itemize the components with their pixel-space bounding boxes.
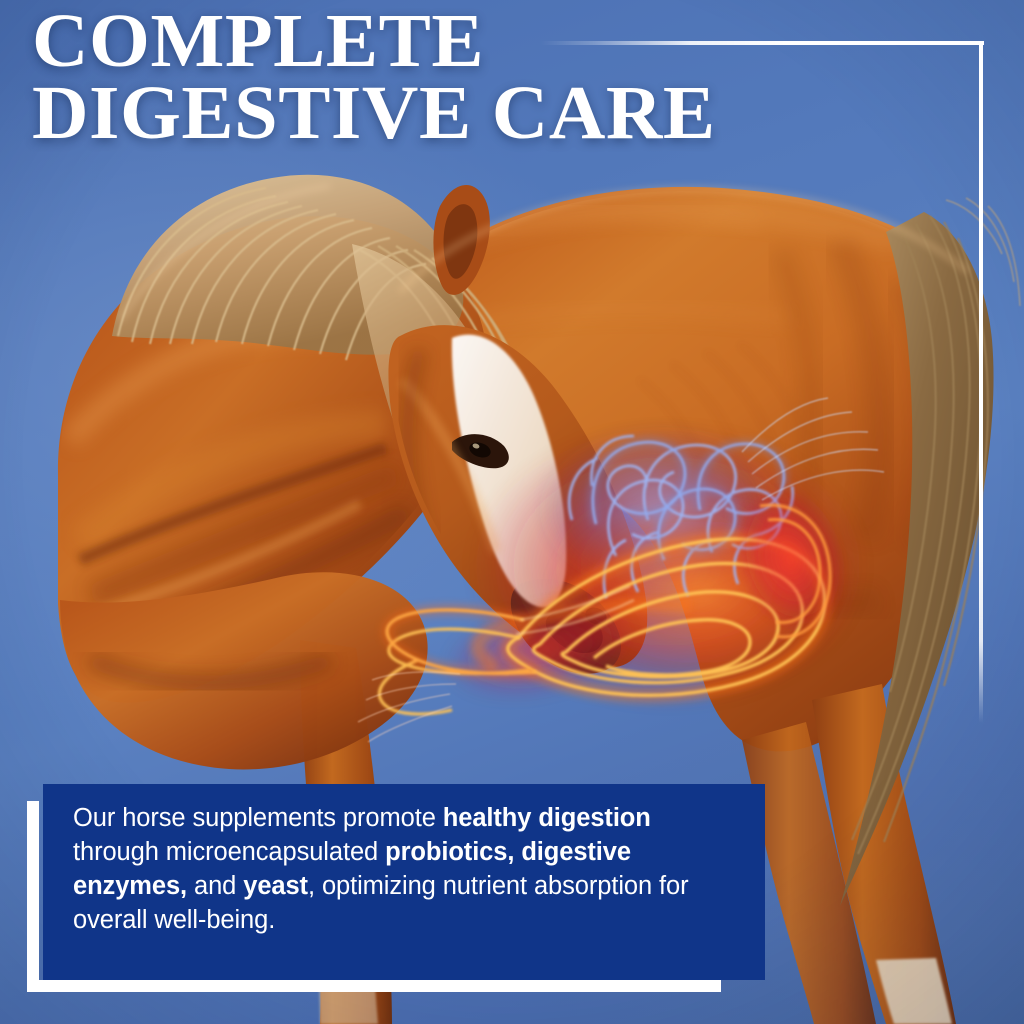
caption-text: Our horse supplements promote healthy di… [73,801,739,937]
poster-canvas: COMPLETE DIGESTIVE CARE Our horse supple… [0,0,1024,1024]
frame-right-rule [979,41,983,723]
caption-frame-vertical [27,801,39,992]
headline-line-2: DIGESTIVE CARE [32,78,716,149]
caption-emphasis: probiotics, digestive enzymes, [73,838,631,900]
headline: COMPLETE DIGESTIVE CARE [32,6,696,148]
caption-emphasis: healthy digestion [443,804,651,832]
headline-line-1: COMPLETE [32,6,716,77]
caption-frame-horizontal [27,980,721,992]
caption-box: Our horse supplements promote healthy di… [43,784,765,980]
caption-emphasis: yeast [243,872,308,900]
